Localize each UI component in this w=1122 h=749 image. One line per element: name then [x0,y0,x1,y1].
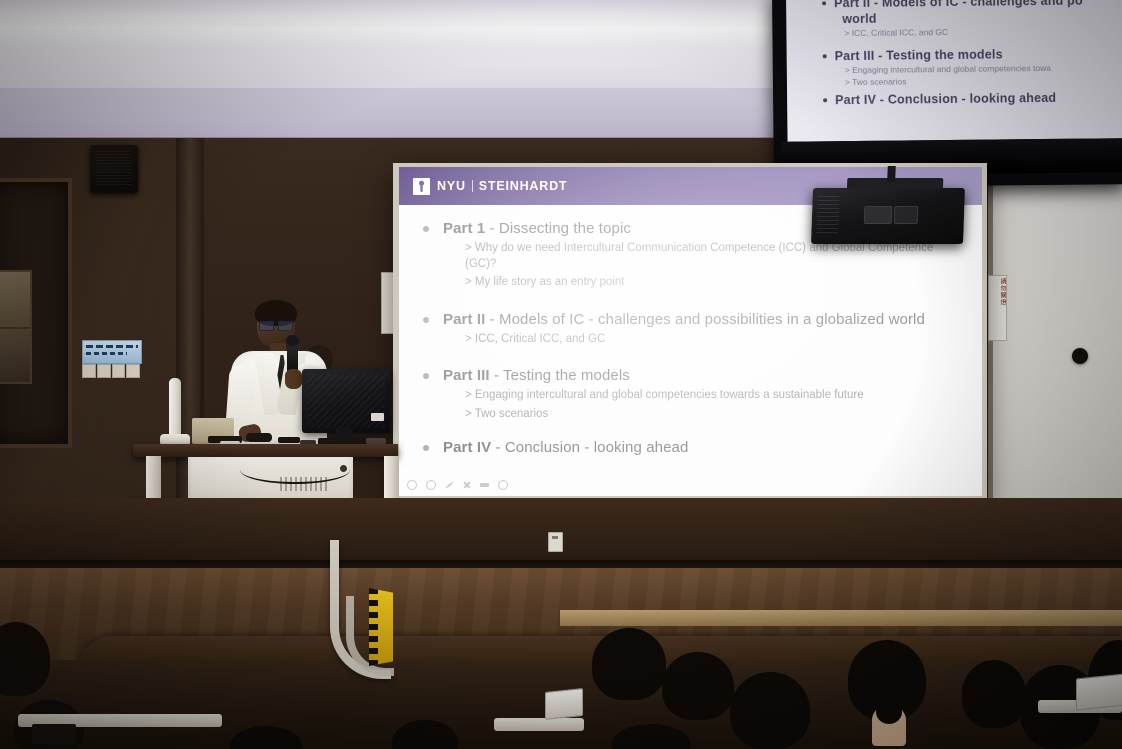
wall-outlet [548,532,563,552]
menu-icon[interactable] [498,480,508,490]
slide-bullet-2-heading: Part II - Models of IC - challenges and … [423,310,962,329]
bullet-4-rest: - Conclusion - looking ahead [491,439,688,456]
slide-bullet-2-sub-1: > ICC, Critical ICC, and GC [465,332,935,348]
desk-item [246,433,272,442]
gooseneck-microphone-icon [169,378,181,438]
bullet-dot-icon [823,54,827,58]
slide-bullet-1-sub-1: > Why do we need Intercultural Communica… [465,241,935,272]
audience-head [662,652,734,720]
torch-icon [413,178,430,195]
podium-cable [240,456,350,484]
audience-rear-rail [560,610,1122,626]
audience-device [32,724,76,744]
eyeglasses-icon [259,321,293,329]
audience-head [592,628,666,700]
nyu-logo-text: NYU STEINHARDT [437,179,567,193]
bullet-1-bold: Part 1 [443,220,485,237]
slide-bullet-1-sub-2: > My life story as an entry point [465,275,935,291]
yellow-cable-ramp [369,588,393,666]
pen-cursor-icon[interactable] [426,480,436,490]
ceiling-projector [811,188,965,244]
slide-bullet-3-sub-2: > Two scenarios [465,407,935,423]
bullet-dot-icon [423,373,429,379]
slide-bullet-3-sub-1: > Engaging intercultural and global comp… [465,388,935,404]
bullet-1-rest: - Dissecting the topic [485,220,631,237]
audience-head [730,672,810,749]
nyu-steinhardt-logo: NYU STEINHARDT [413,178,567,195]
slide-bullet-4: Part IV - Conclusion - looking ahead [423,438,962,457]
audience-laptop [545,688,583,720]
bullet-4-bold: Part IV [443,439,491,456]
slide-bullet-3: Part III - Testing the models > Engaging… [423,366,962,422]
logo-divider [472,180,473,192]
bullet-2-bold: Part II [443,311,485,328]
audience-head [962,660,1026,728]
wall-display[interactable]: Part II - Models of IC - challenges and … [772,0,1122,188]
pen-icon[interactable] [445,481,453,489]
desk-item [278,437,300,443]
slide-bullet-2: Part II - Models of IC - challenges and … [423,310,962,348]
wall-poster [82,340,142,364]
pointer-icon[interactable] [407,480,417,490]
presentation-toolbar[interactable] [407,480,508,490]
nyu-org-label: NYU [437,179,466,193]
door-glass-panel [0,270,32,384]
bullet-3-bold: Part III [443,367,490,384]
audience-desk-row [494,718,584,731]
slider-icon[interactable] [480,483,489,487]
tv-bullet-heading-3: Part IV - Conclusion - looking ahead [823,89,1122,108]
slide-bullet-4-heading: Part IV - Conclusion - looking ahead [423,438,962,457]
bullet-dot-icon [423,226,429,232]
audience-head-overlap [876,700,902,724]
desk-item [330,436,360,444]
wall-speaker-icon [90,145,138,193]
bullet-dot-icon [822,1,826,5]
whiteboard-panel [988,150,1122,530]
desk-monitor [302,369,390,433]
bullet-dot-icon [823,98,827,102]
lecture-hall-scene: 請勿關燈 請勿關燈 Part II - Models of IC - chall… [0,0,1122,749]
audience-laptop [1076,673,1122,710]
slide-bullet-3-heading: Part III - Testing the models [423,366,962,385]
bullet-3-rest: - Testing the models [490,367,630,384]
wall-display-screen: Part II - Models of IC - challenges and … [786,0,1122,142]
nyu-school-label: STEINHARDT [479,179,568,193]
bullet-dot-icon [423,445,429,451]
presenter-hand-right [285,369,302,389]
close-icon[interactable] [463,481,471,489]
bullet-2-rest: - Models of IC - challenges and possibil… [485,311,925,328]
wall-sign-right: 請勿關燈 [988,275,1007,341]
whiteboard-knob [1072,348,1088,364]
poster-caption-strip [82,364,140,378]
bullet-dot-icon [423,317,429,323]
